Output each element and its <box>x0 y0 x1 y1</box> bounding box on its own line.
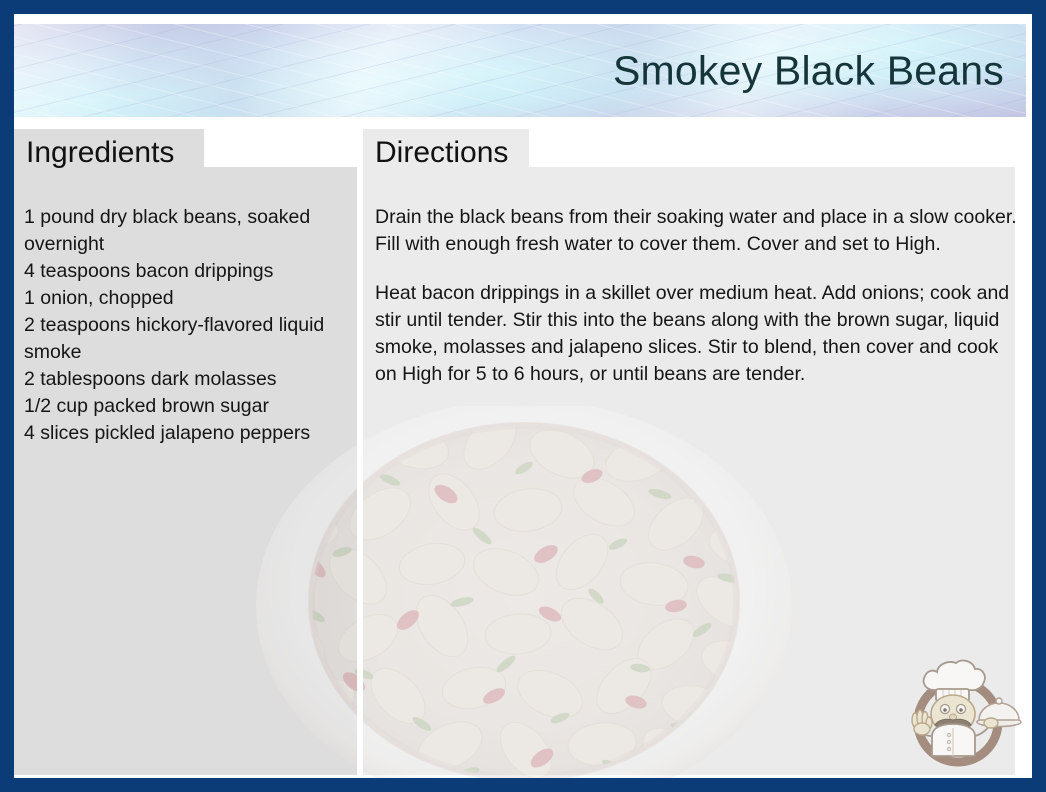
page-title: Smokey Black Beans <box>613 47 1004 94</box>
recipe-card-body: Smokey Black Beans <box>14 14 1032 778</box>
directions-body: Drain the black beans from their soaking… <box>375 204 1023 388</box>
ingredients-text: 1 pound dry black beans, soaked overnigh… <box>24 206 330 444</box>
chef-logo-icon <box>896 650 1024 770</box>
directions-heading-label: Directions <box>375 136 508 170</box>
section-header-directions: Directions <box>363 129 529 177</box>
header-banner: Smokey Black Beans <box>14 24 1026 117</box>
column-divider <box>357 129 363 775</box>
ingredients-list: 1 pound dry black beans, soaked overnigh… <box>24 204 354 447</box>
directions-paragraph: Drain the black beans from their soaking… <box>375 204 1023 258</box>
recipe-card-frame: Smokey Black Beans <box>0 0 1046 792</box>
section-header-ingredients: Ingredients <box>14 129 204 177</box>
ingredients-heading-label: Ingredients <box>26 136 174 170</box>
directions-paragraph: Heat bacon drippings in a skillet over m… <box>375 280 1023 388</box>
